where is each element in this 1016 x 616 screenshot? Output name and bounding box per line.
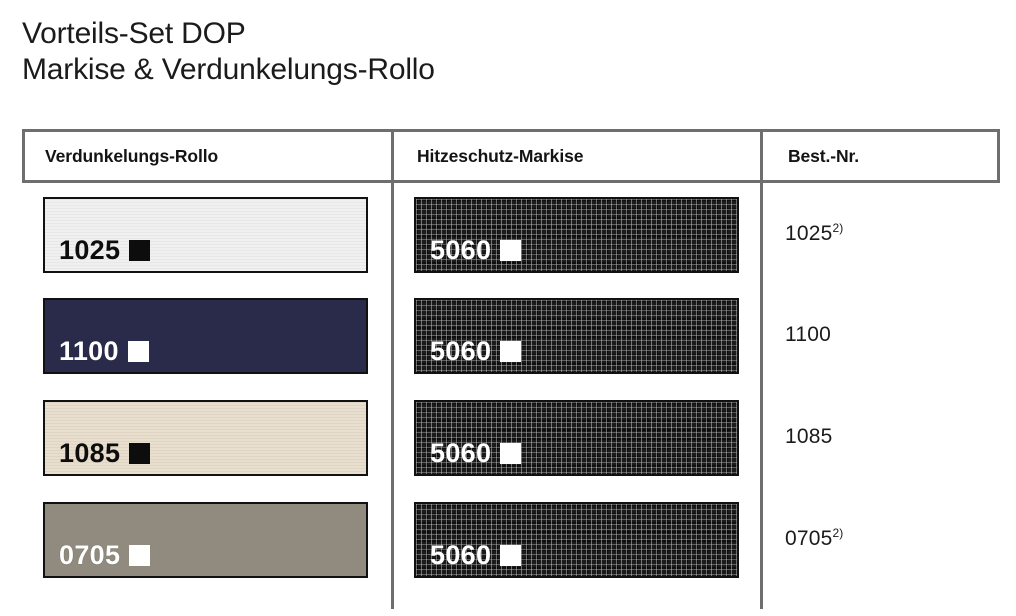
order-number: 1025	[785, 222, 833, 245]
markise-color-code: 5060	[430, 542, 491, 569]
page-title-line-1: Vorteils-Set DOP	[22, 16, 982, 52]
markise-color-code: 5060	[430, 440, 491, 467]
order-number-cell: 10252)	[785, 221, 843, 246]
rollo-swatch-label: 1085	[59, 440, 150, 467]
order-number-cell: 07052)	[785, 526, 843, 551]
rollo-color-code: 1100	[59, 338, 119, 365]
order-number: 1100	[785, 323, 831, 346]
rollo-swatch-label: 0705	[59, 542, 150, 569]
markise-swatch[interactable]: 5060	[414, 502, 739, 578]
rollo-swatch[interactable]: 1100	[43, 298, 368, 374]
rollo-swatch-label: 1100	[59, 338, 149, 365]
table-header-row: Verdunkelungs-Rollo Hitzeschutz-Markise …	[22, 129, 1000, 183]
markise-color-code: 5060	[430, 237, 491, 264]
color-marker-icon	[129, 443, 150, 464]
color-marker-icon	[500, 545, 521, 566]
markise-swatch[interactable]: 5060	[414, 298, 739, 374]
rollo-color-code: 1025	[59, 237, 120, 264]
rollo-color-code: 0705	[59, 542, 120, 569]
order-number-footnote: 2)	[833, 526, 844, 540]
table-row: 1100 5060 1100	[22, 298, 1000, 399]
order-number: 0705	[785, 527, 833, 550]
markise-swatch-label: 5060	[430, 440, 521, 467]
page-title: Vorteils-Set DOP Markise & Verdunkelungs…	[22, 16, 982, 88]
rollo-swatch[interactable]: 1085	[43, 400, 368, 476]
column-header-hitzeschutz-markise: Hitzeschutz-Markise	[417, 132, 583, 180]
table-row: 0705 5060 07052)	[22, 502, 1000, 603]
markise-color-code: 5060	[430, 338, 491, 365]
order-number-cell: 1085	[785, 424, 833, 449]
page-title-line-2: Markise & Verdunkelungs-Rollo	[22, 52, 982, 88]
column-header-verdunkelungs-rollo: Verdunkelungs-Rollo	[45, 132, 218, 180]
color-marker-icon	[129, 240, 150, 261]
table-row: 1025 5060 10252)	[22, 197, 1000, 298]
table-row: 1085 5060 1085	[22, 400, 1000, 501]
rollo-swatch[interactable]: 0705	[43, 502, 368, 578]
color-marker-icon	[500, 443, 521, 464]
order-number-footnote: 2)	[833, 221, 844, 235]
color-marker-icon	[500, 341, 521, 362]
markise-swatch[interactable]: 5060	[414, 400, 739, 476]
color-marker-icon	[129, 545, 150, 566]
markise-swatch-label: 5060	[430, 338, 521, 365]
column-header-best-nr: Best.-Nr.	[788, 132, 859, 180]
color-marker-icon	[500, 240, 521, 261]
markise-swatch[interactable]: 5060	[414, 197, 739, 273]
markise-swatch-label: 5060	[430, 237, 521, 264]
rollo-color-code: 1085	[59, 440, 120, 467]
color-marker-icon	[128, 341, 149, 362]
order-number-cell: 1100	[785, 322, 831, 347]
order-number: 1085	[785, 425, 833, 448]
markise-swatch-label: 5060	[430, 542, 521, 569]
rollo-swatch[interactable]: 1025	[43, 197, 368, 273]
rollo-swatch-label: 1025	[59, 237, 150, 264]
product-table: Verdunkelungs-Rollo Hitzeschutz-Markise …	[22, 129, 1000, 609]
table-body: 1025 5060 10252) 1100	[22, 183, 1000, 609]
